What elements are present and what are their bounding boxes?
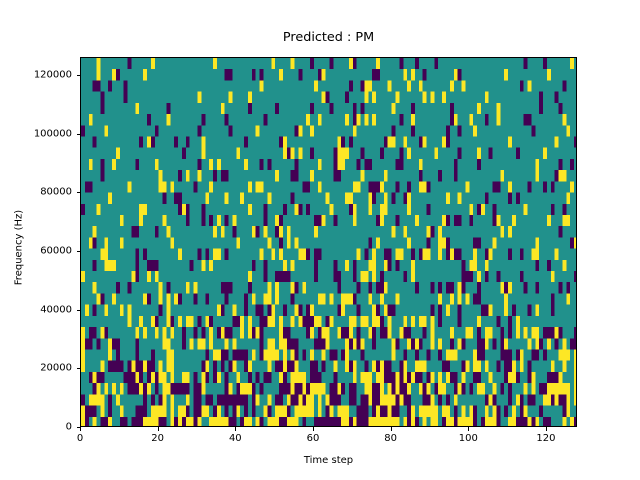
y-tick-mark: [77, 368, 81, 369]
y-tick-label: 120000: [0, 69, 72, 80]
x-tick-mark: [391, 427, 392, 431]
x-tick-mark: [80, 427, 81, 431]
y-tick-label: 100000: [0, 128, 72, 139]
x-tick-label: 120: [536, 433, 555, 444]
x-tick-mark: [158, 427, 159, 431]
y-tick-label: 80000: [0, 187, 72, 198]
x-tick-label: 100: [459, 433, 478, 444]
y-tick-mark: [77, 192, 81, 193]
x-tick-label: 80: [384, 433, 397, 444]
matplotlib-figure: Predicted : PM 0200004000060000800001000…: [0, 0, 640, 480]
y-tick-mark: [77, 251, 81, 252]
x-tick-mark: [313, 427, 314, 431]
y-axis-label: Frequency (Hz): [14, 193, 25, 303]
x-tick-label: 20: [151, 433, 164, 444]
x-tick-mark: [235, 427, 236, 431]
x-tick-mark: [546, 427, 547, 431]
y-tick-label: 0: [0, 422, 72, 433]
y-tick-mark: [77, 75, 81, 76]
page-title: Predicted : PM: [80, 30, 577, 45]
y-tick-label: 60000: [0, 245, 72, 256]
y-tick-mark: [77, 134, 81, 135]
heatmap-image: [81, 58, 577, 427]
x-tick-label: 0: [77, 433, 83, 444]
x-tick-label: 60: [307, 433, 320, 444]
x-axis-label: Time step: [80, 455, 577, 466]
x-tick-label: 40: [229, 433, 242, 444]
heatmap-axes: [80, 57, 577, 427]
x-tick-mark: [468, 427, 469, 431]
y-tick-label: 20000: [0, 363, 72, 374]
y-tick-label: 40000: [0, 304, 72, 315]
y-tick-mark: [77, 310, 81, 311]
